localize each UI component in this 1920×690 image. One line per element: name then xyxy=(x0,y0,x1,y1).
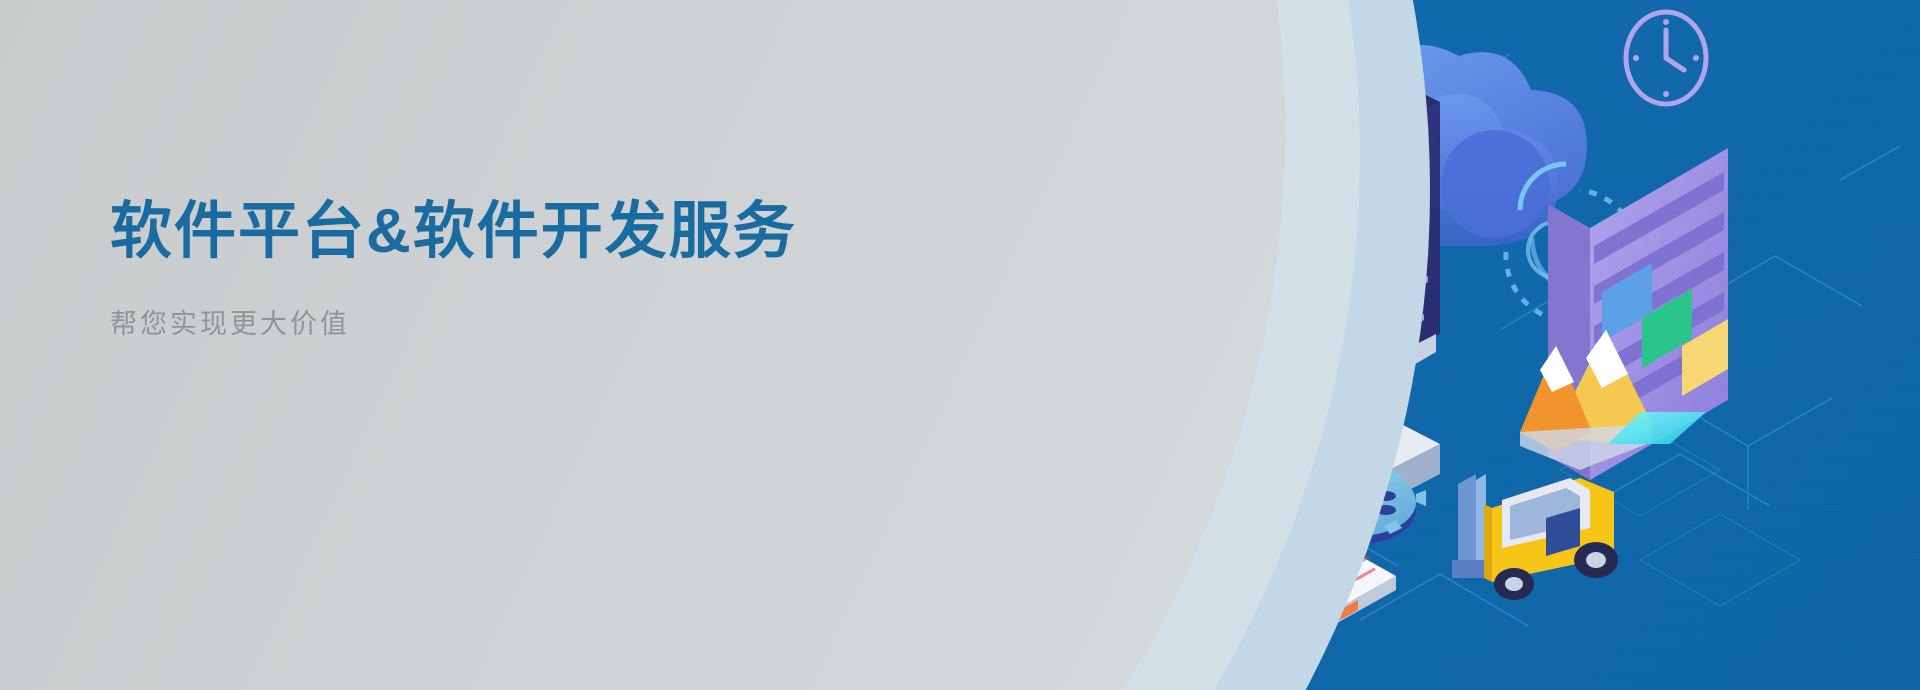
page-title: 软件平台&软件开发服务 xyxy=(110,196,870,267)
page-subtitle: 帮您实现更大价值 xyxy=(110,267,870,342)
clock-icon xyxy=(1626,12,1706,104)
hero-banner: 软件平台&软件开发服务 帮您实现更大价值 xyxy=(0,0,1920,690)
forklift-icon xyxy=(1452,474,1618,600)
copy-block: 软件平台&软件开发服务 帮您实现更大价值 xyxy=(110,196,870,342)
arc-band-gray xyxy=(0,0,1285,690)
